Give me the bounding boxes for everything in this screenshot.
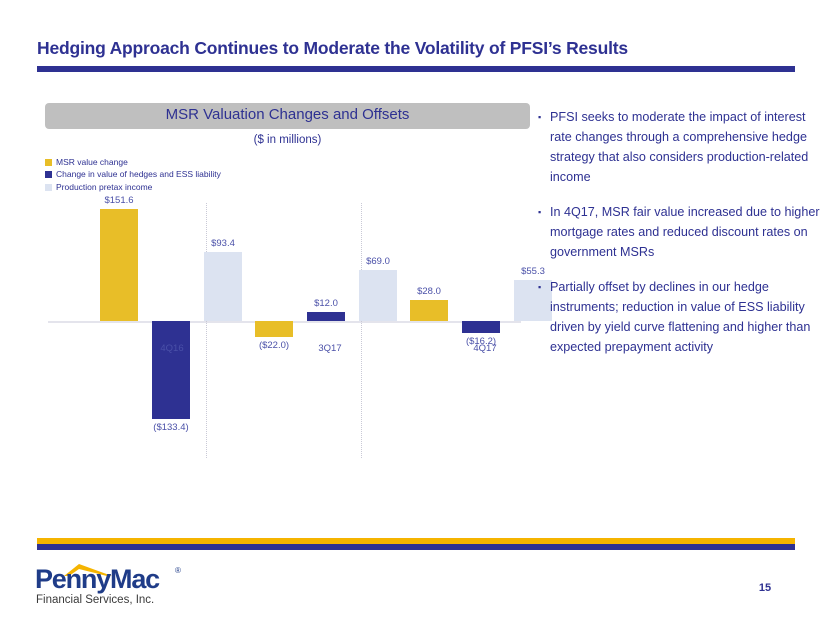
- legend-item-msr-value-change: MSR value change: [45, 156, 221, 169]
- bullet-marker-icon: ▪: [538, 107, 550, 187]
- legend-swatch-gold: [45, 159, 52, 166]
- list-item: ▪ PFSI seeks to moderate the impact of i…: [538, 107, 828, 187]
- bar-hedges-ess-liability-4q16: [152, 321, 190, 419]
- chart-panel: MSR Valuation Changes and Offsets ($ in …: [45, 103, 530, 473]
- title-underline-rule: [37, 66, 795, 72]
- data-label-3q17-production-pretax-income: $69.0: [341, 256, 415, 267]
- slide: Hedging Approach Continues to Moderate t…: [0, 0, 830, 623]
- chart-title: MSR Valuation Changes and Offsets: [45, 106, 530, 123]
- list-item: ▪ Partially offset by declines in our he…: [538, 277, 828, 357]
- chart-plot-area: $151.6($133.4)$93.4($22.0)$12.0$69.0$28.…: [45, 203, 530, 473]
- data-label-4q16-hedges-ess-liability: ($133.4): [134, 422, 208, 433]
- logo-registered-mark: ®: [175, 566, 181, 575]
- legend-label: Production pretax income: [56, 183, 152, 192]
- chart-subtitle: ($ in millions): [45, 134, 530, 146]
- bar-msr-value-change-4q17: [410, 300, 448, 321]
- bullet-text: In 4Q17, MSR fair value increased due to…: [550, 202, 828, 262]
- legend-label: MSR value change: [56, 158, 128, 167]
- legend-item-production-pretax-income: Production pretax income: [45, 181, 221, 194]
- x-axis-label-4q17: 4Q17: [440, 343, 530, 354]
- data-label-4q16-production-pretax-income: $93.4: [186, 238, 260, 249]
- data-label-4q16-msr-value-change: $151.6: [82, 195, 156, 206]
- legend-item-hedges-ess: Change in value of hedges and ESS liabil…: [45, 169, 221, 182]
- bar-msr-value-change-4q16: [100, 209, 138, 321]
- page-title: Hedging Approach Continues to Moderate t…: [37, 38, 797, 59]
- logo-tagline: Financial Services, Inc.: [36, 594, 154, 606]
- data-label-4q17-msr-value-change: $28.0: [392, 286, 466, 297]
- bullet-marker-icon: ▪: [538, 202, 550, 262]
- footer-navy-rule: [37, 544, 795, 550]
- legend-swatch-navy: [45, 171, 52, 178]
- logo-wordmark: PennyMac: [35, 564, 159, 595]
- legend-swatch-light-blue: [45, 184, 52, 191]
- pennymac-logo: PennyMac ® Financial Services, Inc.: [35, 562, 265, 614]
- chart-legend: MSR value change Change in value of hedg…: [45, 156, 221, 194]
- bar-msr-value-change-3q17: [255, 321, 293, 337]
- legend-label: Change in value of hedges and ESS liabil…: [56, 170, 221, 179]
- bar-hedges-ess-liability-4q17: [462, 321, 500, 333]
- list-item: ▪ In 4Q17, MSR fair value increased due …: [538, 202, 828, 262]
- x-axis-label-3q17: 3Q17: [285, 343, 375, 354]
- bullet-text: Partially offset by declines in our hedg…: [550, 277, 828, 357]
- bar-hedges-ess-liability-3q17: [307, 312, 345, 321]
- group-separator: [361, 203, 362, 458]
- bullet-text: PFSI seeks to moderate the impact of int…: [550, 107, 828, 187]
- bar-production-pretax-income-4q16: [204, 252, 242, 321]
- bullet-marker-icon: ▪: [538, 277, 550, 357]
- x-axis-label-4q16: 4Q16: [127, 343, 217, 354]
- page-number: 15: [745, 582, 785, 594]
- bullet-list: ▪ PFSI seeks to moderate the impact of i…: [538, 107, 828, 372]
- data-label-3q17-hedges-ess-liability: $12.0: [289, 298, 363, 309]
